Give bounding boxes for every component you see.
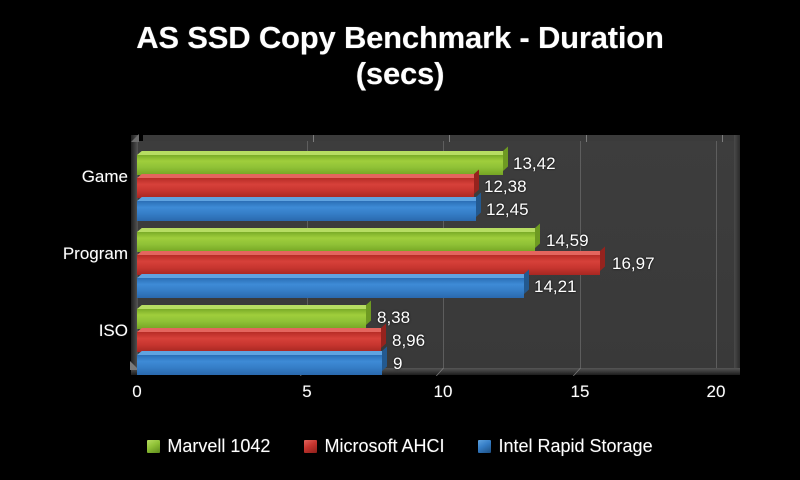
chart-title: AS SSD Copy Benchmark - Duration (secs) bbox=[0, 20, 800, 92]
category-axis: Game Program ISO bbox=[0, 141, 128, 374]
bar-iso-marvell-1042[interactable] bbox=[137, 309, 366, 329]
blue-swatch-icon bbox=[478, 440, 491, 453]
xtick-label-5: 5 bbox=[277, 382, 337, 402]
bar-body bbox=[137, 309, 366, 329]
category-label-game: Game bbox=[8, 167, 128, 187]
legend-item-microsoft-ahci[interactable]: Microsoft AHCI bbox=[304, 436, 444, 457]
bar-program-intel-rapid-storage[interactable] bbox=[137, 278, 524, 298]
xtick-label-20: 20 bbox=[686, 382, 746, 402]
bar-body bbox=[137, 155, 503, 175]
legend-label-intel-rapid-storage: Intel Rapid Storage bbox=[498, 436, 652, 457]
xtick-label-10: 10 bbox=[413, 382, 473, 402]
red-swatch-icon bbox=[304, 440, 317, 453]
legend-label-microsoft-ahci: Microsoft AHCI bbox=[324, 436, 444, 457]
data-label-iso-marvell-1042: 8,38 bbox=[377, 308, 410, 328]
gridline-20 bbox=[716, 141, 717, 368]
gridline-top-tick-5 bbox=[313, 135, 314, 142]
bar-game-microsoft-ahci[interactable] bbox=[137, 178, 474, 198]
data-label-game-marvell-1042: 13,42 bbox=[513, 154, 556, 174]
chart-legend: Marvell 1042 Microsoft AHCI Intel Rapid … bbox=[0, 436, 800, 457]
data-label-program-marvell-1042: 14,59 bbox=[546, 231, 589, 251]
bar-body bbox=[137, 232, 535, 252]
category-label-iso: ISO bbox=[8, 321, 128, 341]
plot-area: 13,42 12,38 12,45 14,59 16,97 1 bbox=[137, 141, 740, 374]
data-label-program-microsoft-ahci: 16,97 bbox=[612, 254, 655, 274]
chart-title-line-1: AS SSD Copy Benchmark - Duration bbox=[0, 20, 800, 56]
bar-body bbox=[137, 201, 476, 221]
xtick-label-15: 15 bbox=[550, 382, 610, 402]
data-label-iso-microsoft-ahci: 8,96 bbox=[392, 331, 425, 351]
bar-iso-intel-rapid-storage[interactable] bbox=[137, 355, 382, 375]
bar-game-marvell-1042[interactable] bbox=[137, 155, 503, 175]
bar-iso-microsoft-ahci[interactable] bbox=[137, 332, 381, 352]
chart-container: AS SSD Copy Benchmark - Duration (secs) … bbox=[0, 0, 800, 480]
data-label-program-intel-rapid-storage: 14,21 bbox=[534, 277, 577, 297]
data-label-iso-intel-rapid-storage: 9 bbox=[393, 354, 402, 374]
gridline-top-tick-10 bbox=[449, 135, 450, 142]
bar-program-microsoft-ahci[interactable] bbox=[137, 255, 600, 275]
data-label-game-microsoft-ahci: 12,38 bbox=[484, 177, 527, 197]
bar-body bbox=[137, 355, 382, 375]
legend-label-marvell-1042: Marvell 1042 bbox=[167, 436, 270, 457]
legend-item-intel-rapid-storage[interactable]: Intel Rapid Storage bbox=[478, 436, 652, 457]
plot-right-edge bbox=[734, 135, 740, 368]
bar-body bbox=[137, 332, 381, 352]
bar-game-intel-rapid-storage[interactable] bbox=[137, 201, 476, 221]
legend-item-marvell-1042[interactable]: Marvell 1042 bbox=[147, 436, 270, 457]
gridline-top-tick-20 bbox=[722, 135, 723, 142]
green-swatch-icon bbox=[147, 440, 160, 453]
bar-body bbox=[137, 178, 474, 198]
gridline-top-tick-15 bbox=[586, 135, 587, 142]
bar-body bbox=[137, 255, 600, 275]
chart-title-line-2: (secs) bbox=[0, 56, 800, 92]
xtick-label-0: 0 bbox=[107, 382, 167, 402]
bar-program-marvell-1042[interactable] bbox=[137, 232, 535, 252]
data-label-game-intel-rapid-storage: 12,45 bbox=[486, 200, 529, 220]
bar-body bbox=[137, 278, 524, 298]
category-label-program: Program bbox=[8, 244, 128, 264]
